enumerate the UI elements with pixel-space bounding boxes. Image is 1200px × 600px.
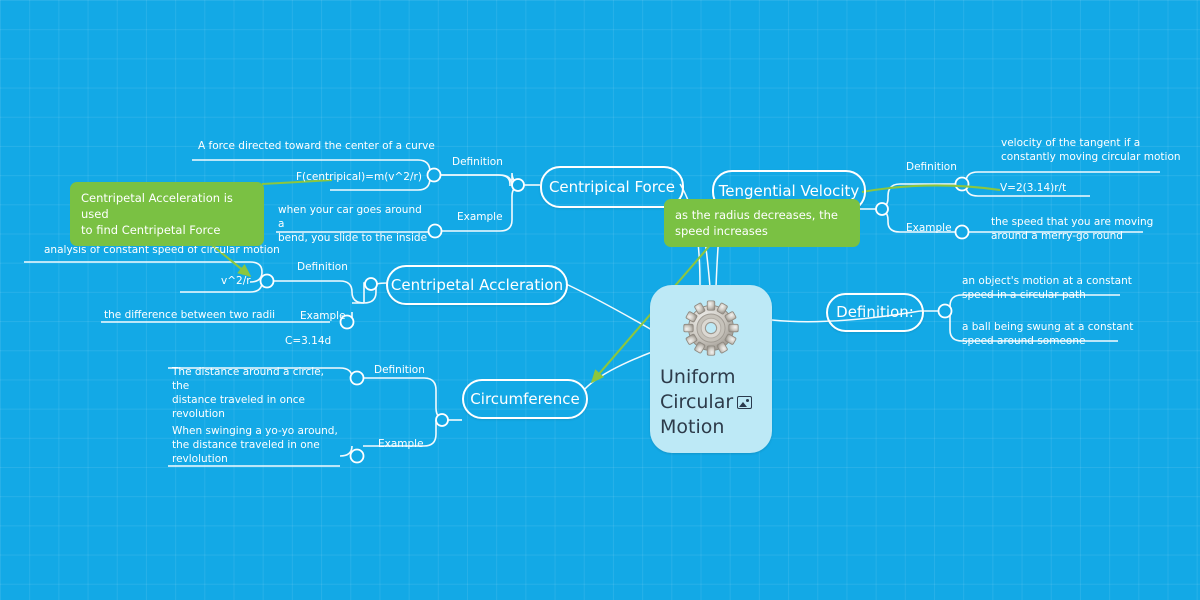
leaf-cf-definition-2: F(centripical)=m(v^2/r) <box>296 170 422 184</box>
branch-label-cf-example: Example <box>457 211 503 224</box>
topic-label: Centripical Force <box>549 180 675 195</box>
junction-dot <box>876 203 888 215</box>
branch-label-cf-definition: Definition <box>452 156 503 169</box>
topic-centripical-force[interactable]: Centripical Force <box>540 166 684 208</box>
branch-label-tv-example: Example <box>906 222 952 235</box>
central-node-label: Uniform Circular Motion <box>660 365 766 440</box>
central-line-3: Motion <box>660 415 766 440</box>
leaf-ca-definition-2: v^2/r <box>221 274 251 288</box>
junction-dot <box>956 226 969 239</box>
callout-line-1: as the radius decreases, the <box>675 207 849 223</box>
leaf-tv-definition-2: V=2(3.14)r/t <box>1000 181 1066 195</box>
topic-label: Circumference <box>470 392 579 407</box>
junction-dot <box>351 372 364 385</box>
leaf-def-2: a ball being swung at a constant speed a… <box>962 320 1142 348</box>
image-attachment-icon[interactable] <box>737 396 752 409</box>
leaf-def-1: an object's motion at a constant speed i… <box>962 274 1142 302</box>
leaf-circ-definition-1: The distance around a circle, the distan… <box>172 365 340 421</box>
gear-icon <box>681 299 741 359</box>
callout-line-2: speed increases <box>675 223 849 239</box>
branch-label-ca-example: Example <box>300 310 346 323</box>
leaf-tv-example-1: the speed that you are moving around a m… <box>991 215 1171 243</box>
branch-label-circ-definition: Definition <box>374 364 425 377</box>
callout-radius-speed[interactable]: as the radius decreases, the speed incre… <box>664 199 860 247</box>
callout-line-2: to find Centripetal Force <box>81 222 253 238</box>
junction-dot <box>351 450 364 463</box>
topic-label: Centripetal Accleration <box>391 278 563 293</box>
topic-label: Definition: <box>836 305 914 320</box>
junction-dot <box>429 225 442 238</box>
central-node-uniform-circular-motion[interactable]: Uniform Circular Motion <box>650 285 772 453</box>
leaf-cf-definition-1: A force directed toward the center of a … <box>198 139 435 153</box>
callout-line-1: Centripetal Acceleration is used <box>81 190 253 222</box>
junction-dot <box>261 275 274 288</box>
leaf-circ-example-1: When swinging a yo-yo around, the distan… <box>172 424 352 466</box>
topic-definition-colon[interactable]: Definition: <box>826 293 924 332</box>
central-line-2: Circular <box>660 391 733 413</box>
junction-dot <box>436 414 448 426</box>
junction-dot <box>428 169 441 182</box>
junction-dot <box>365 278 377 290</box>
callout-centripetal-acceleration[interactable]: Centripetal Acceleration is used to find… <box>70 182 264 246</box>
topic-centripetal-accleration[interactable]: Centripetal Accleration <box>386 265 568 305</box>
junction-dot <box>956 178 969 191</box>
leaf-cf-example-1: when your car goes around a bend, you sl… <box>278 203 428 245</box>
branch-label-tv-definition: Definition <box>906 161 957 174</box>
topic-label: Tengential Velocity <box>719 184 860 199</box>
leaf-ca-example-1: the difference between two radii <box>104 308 275 322</box>
branch-label-ca-definition: Definition <box>297 261 348 274</box>
branch-label-circ-example: Example <box>378 438 424 451</box>
central-line-1: Uniform <box>660 365 766 390</box>
junction-dot <box>939 305 952 318</box>
leaf-ca-example-2: C=3.14d <box>285 334 331 348</box>
topic-circumference[interactable]: Circumference <box>462 379 588 419</box>
junction-dot <box>512 179 524 191</box>
leaf-tv-definition-1: velocity of the tangent if a constantly … <box>1001 136 1181 164</box>
